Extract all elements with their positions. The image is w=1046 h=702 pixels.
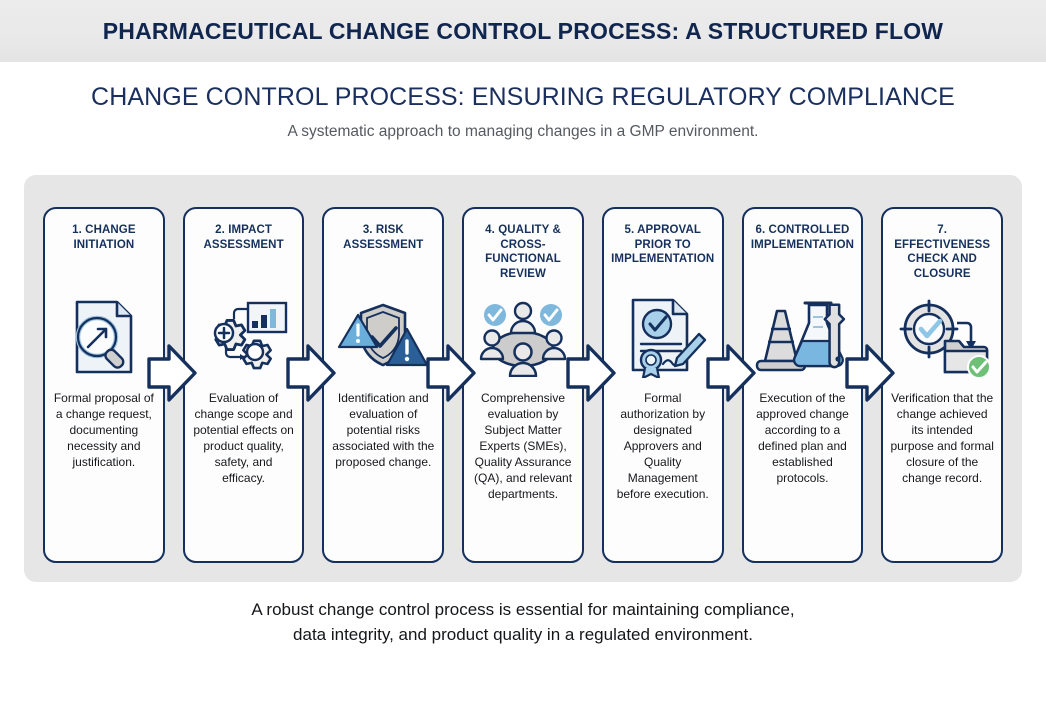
- subheader-subtitle: A systematic approach to managing change…: [0, 123, 1046, 141]
- step-title-2: 2. IMPACT ASSESSMENT: [192, 223, 296, 285]
- subheader-title: CHANGE CONTROL PROCESS: ENSURING REGULAT…: [0, 83, 1046, 112]
- step-description-4: Comprehensive evaluation by Subject Matt…: [471, 391, 575, 503]
- header-band: PHARMACEUTICAL CHANGE CONTROL PROCESS: A…: [0, 0, 1046, 62]
- gears-chart-icon: [192, 285, 296, 389]
- step-card-1[interactable]: 1. CHANGE INITIATION Formal proposal of …: [43, 207, 165, 563]
- footer-line-2: data integrity, and product quality in a…: [0, 623, 1046, 648]
- step-description-6: Execution of the approved change accordi…: [751, 391, 855, 487]
- document-magnifier-icon: [52, 285, 156, 389]
- step-card-5[interactable]: 5. APPROVAL PRIOR TO IMPLEMENTATION Form…: [602, 207, 724, 563]
- process-steps-row: 1. CHANGE INITIATION Formal proposal of …: [43, 207, 1003, 563]
- step-description-1: Formal proposal of a change request, doc…: [52, 391, 156, 471]
- step-title-3: 3. RISK ASSESSMENT: [331, 223, 435, 285]
- step-card-4[interactable]: 4. QUALITY & CROSS-FUNCTIONAL REVIEW Com…: [462, 207, 584, 563]
- step-title-7: 7. EFFECTIVENESS CHECK AND CLOSURE: [890, 223, 994, 285]
- step-card-6[interactable]: 6. CONTROLLED IMPLEMENTATION Execution o…: [742, 207, 864, 563]
- footer-line-1: A robust change control process is essen…: [0, 598, 1046, 623]
- cone-flask-wrench-icon: [751, 285, 855, 389]
- step-title-6: 6. CONTROLLED IMPLEMENTATION: [751, 223, 855, 285]
- team-meeting-icon: [471, 285, 575, 389]
- step-title-5: 5. APPROVAL PRIOR TO IMPLEMENTATION: [611, 223, 715, 285]
- step-title-4: 4. QUALITY & CROSS-FUNCTIONAL REVIEW: [471, 223, 575, 285]
- target-check-folder-icon: [890, 285, 994, 389]
- step-title-1: 1. CHANGE INITIATION: [52, 223, 156, 285]
- step-description-7: Verification that the change achieved it…: [890, 391, 994, 487]
- footer-note: A robust change control process is essen…: [0, 598, 1046, 647]
- step-description-5: Formal authorization by designated Appro…: [611, 391, 715, 503]
- certificate-signature-icon: [611, 285, 715, 389]
- step-description-3: Identification and evaluation of potenti…: [331, 391, 435, 471]
- step-card-2[interactable]: 2. IMPACT ASSESSMENT Eva: [183, 207, 305, 563]
- step-card-7[interactable]: 7. EFFECTIVENESS CHECK AND CLOSURE Verif…: [881, 207, 1003, 563]
- step-description-2: Evaluation of change scope and potential…: [192, 391, 296, 487]
- shield-warning-icon: [331, 285, 435, 389]
- step-card-3[interactable]: 3. RISK ASSESSMENT Identification and ev…: [322, 207, 444, 563]
- page-title: PHARMACEUTICAL CHANGE CONTROL PROCESS: A…: [103, 18, 943, 45]
- subheader: CHANGE CONTROL PROCESS: ENSURING REGULAT…: [0, 62, 1046, 175]
